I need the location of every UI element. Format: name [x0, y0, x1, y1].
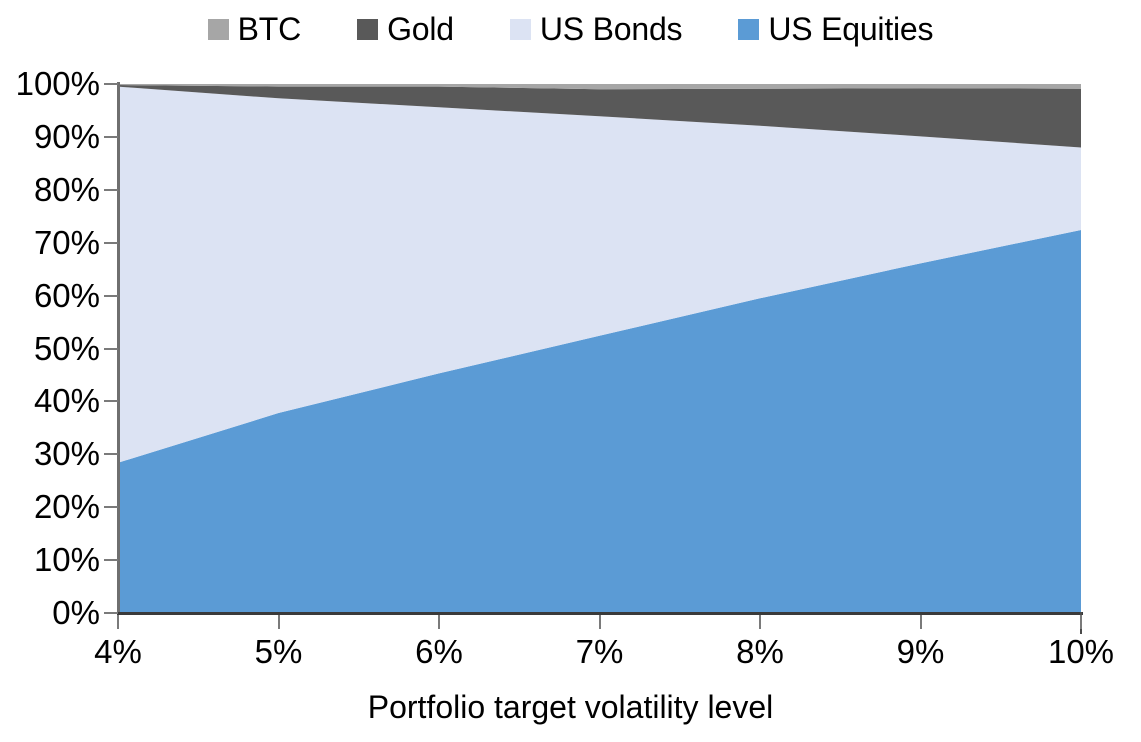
chart-legend: BTC Gold US Bonds US Equities [0, 6, 1141, 52]
y-axis-tick [104, 189, 118, 191]
y-axis-tick-label: 80% [0, 173, 100, 206]
legend-label: US Bonds [540, 13, 682, 45]
plot-area [118, 84, 1081, 613]
y-axis-tick [104, 612, 118, 614]
y-axis-tick [104, 136, 118, 138]
x-axis-tick [278, 615, 280, 629]
x-axis-tick [438, 615, 440, 629]
y-axis-tick-label: 100% [0, 67, 100, 100]
stacked-area-svg [118, 84, 1081, 613]
legend-swatch-icon [357, 19, 378, 40]
y-axis-tick [104, 506, 118, 508]
x-axis-title: Portfolio target volatility level [0, 688, 1141, 726]
legend-item-us-bonds[interactable]: US Bonds [510, 13, 682, 45]
y-axis-tick [104, 242, 118, 244]
y-axis-tick [104, 295, 118, 297]
x-axis-tick-label: 10% [1048, 634, 1114, 670]
x-axis-tick-label: 6% [415, 634, 463, 670]
legend-item-gold[interactable]: Gold [357, 13, 454, 45]
legend-label: Gold [387, 13, 454, 45]
legend-item-us-equities[interactable]: US Equities [738, 13, 933, 45]
x-axis-tick-label: 7% [576, 634, 624, 670]
y-axis-tick-label: 0% [0, 596, 100, 629]
chart-container: BTC Gold US Bonds US Equities 0%10%20%30… [0, 0, 1141, 742]
x-axis-tick-label: 4% [94, 634, 142, 670]
y-axis-tick-label: 10% [0, 543, 100, 576]
y-axis-tick-label: 20% [0, 490, 100, 523]
y-axis-tick [104, 348, 118, 350]
x-axis-tick [599, 615, 601, 629]
y-axis-tick [104, 559, 118, 561]
legend-label: BTC [238, 13, 301, 45]
x-axis-tick [117, 615, 119, 629]
y-axis-tick-label: 40% [0, 384, 100, 417]
x-axis-tick-label: 9% [897, 634, 945, 670]
x-axis-tick [920, 615, 922, 629]
legend-label: US Equities [768, 13, 933, 45]
y-axis-tick [104, 400, 118, 402]
legend-item-btc[interactable]: BTC [208, 13, 301, 45]
y-axis-tick-label: 30% [0, 437, 100, 470]
y-axis-tick-label: 90% [0, 120, 100, 153]
x-axis-tick [1080, 615, 1082, 629]
area-layers [118, 84, 1081, 613]
y-axis-tick [104, 83, 118, 85]
legend-swatch-icon [208, 19, 229, 40]
x-axis-tick-label: 8% [736, 634, 784, 670]
x-axis-tick-label: 5% [255, 634, 303, 670]
y-axis-tick-label: 50% [0, 332, 100, 365]
y-axis-tick [104, 453, 118, 455]
y-axis-tick-label: 70% [0, 226, 100, 259]
legend-swatch-icon [510, 19, 531, 40]
x-axis-tick [759, 615, 761, 629]
legend-swatch-icon [738, 19, 759, 40]
y-axis-tick-label: 60% [0, 279, 100, 312]
y-axis-labels: 0%10%20%30%40%50%60%70%80%90%100% [0, 0, 100, 742]
